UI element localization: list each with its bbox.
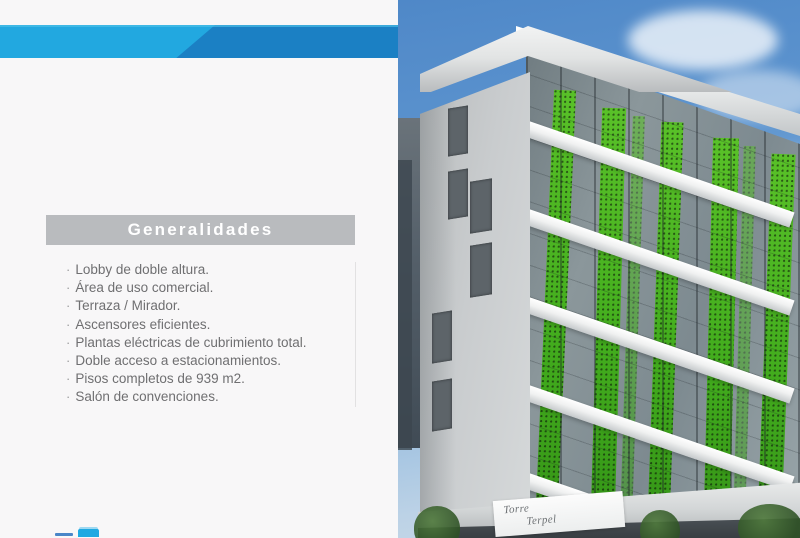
bullet-icon: · — [66, 279, 70, 297]
signage-line-1: Torre — [503, 502, 530, 516]
section-title: Generalidades — [128, 220, 274, 240]
list-item: · Área de uso comercial. — [66, 279, 356, 297]
list-item-label: Pisos completos de 939 m2. — [75, 370, 245, 388]
side-wall-window — [470, 178, 492, 233]
footer-dash-mark — [55, 533, 73, 536]
features-list: · Lobby de doble altura. · Área de uso c… — [66, 261, 356, 407]
side-wall-window — [448, 168, 468, 219]
list-item: · Pisos completos de 939 m2. — [66, 370, 356, 388]
footer-block-mark — [78, 529, 99, 537]
brochure-page: Generalidades · Lobby de doble altura. ·… — [0, 0, 800, 538]
side-wall-window — [432, 378, 452, 431]
list-item: · Plantas eléctricas de cubrimiento tota… — [66, 334, 356, 352]
list-item-label: Terraza / Mirador. — [75, 297, 180, 315]
banner-highlight-line — [0, 25, 398, 27]
side-wall-window — [470, 242, 492, 297]
list-item-label: Ascensores eficientes. — [75, 316, 210, 334]
list-item-label: Lobby de doble altura. — [75, 261, 209, 279]
signage-text: Torre Terpel — [503, 500, 557, 530]
bullet-icon: · — [66, 297, 70, 315]
side-wall-window — [448, 105, 468, 156]
list-item-label: Doble acceso a estacionamientos. — [75, 352, 281, 370]
list-item: · Ascensores eficientes. — [66, 316, 356, 334]
section-title-bar: Generalidades — [46, 215, 355, 245]
list-item-label: Salón de convenciones. — [75, 388, 218, 406]
list-item-label: Plantas eléctricas de cubrimiento total. — [75, 334, 306, 352]
bullet-icon: · — [66, 352, 70, 370]
bullet-icon: · — [66, 388, 70, 406]
building-photograph: Torre Terpel — [398, 0, 800, 538]
signage-line-2: Terpel — [526, 513, 557, 528]
list-item: · Doble acceso a estacionamientos. — [66, 352, 356, 370]
side-wall-window — [432, 310, 452, 363]
list-item: · Salón de convenciones. — [66, 388, 356, 406]
bullet-icon: · — [66, 316, 70, 334]
vertical-divider — [355, 262, 356, 407]
list-item: · Lobby de doble altura. — [66, 261, 356, 279]
bullet-icon: · — [66, 261, 70, 279]
bullet-icon: · — [66, 334, 70, 352]
bullet-icon: · — [66, 370, 70, 388]
left-content-panel: Generalidades · Lobby de doble altura. ·… — [0, 0, 398, 538]
top-accent-banner — [0, 25, 398, 58]
main-building: Torre Terpel — [408, 12, 800, 538]
roof-slab — [420, 26, 800, 92]
list-item: · Terraza / Mirador. — [66, 297, 356, 315]
footer-logo-marks — [0, 526, 398, 538]
list-item-label: Área de uso comercial. — [75, 279, 213, 297]
